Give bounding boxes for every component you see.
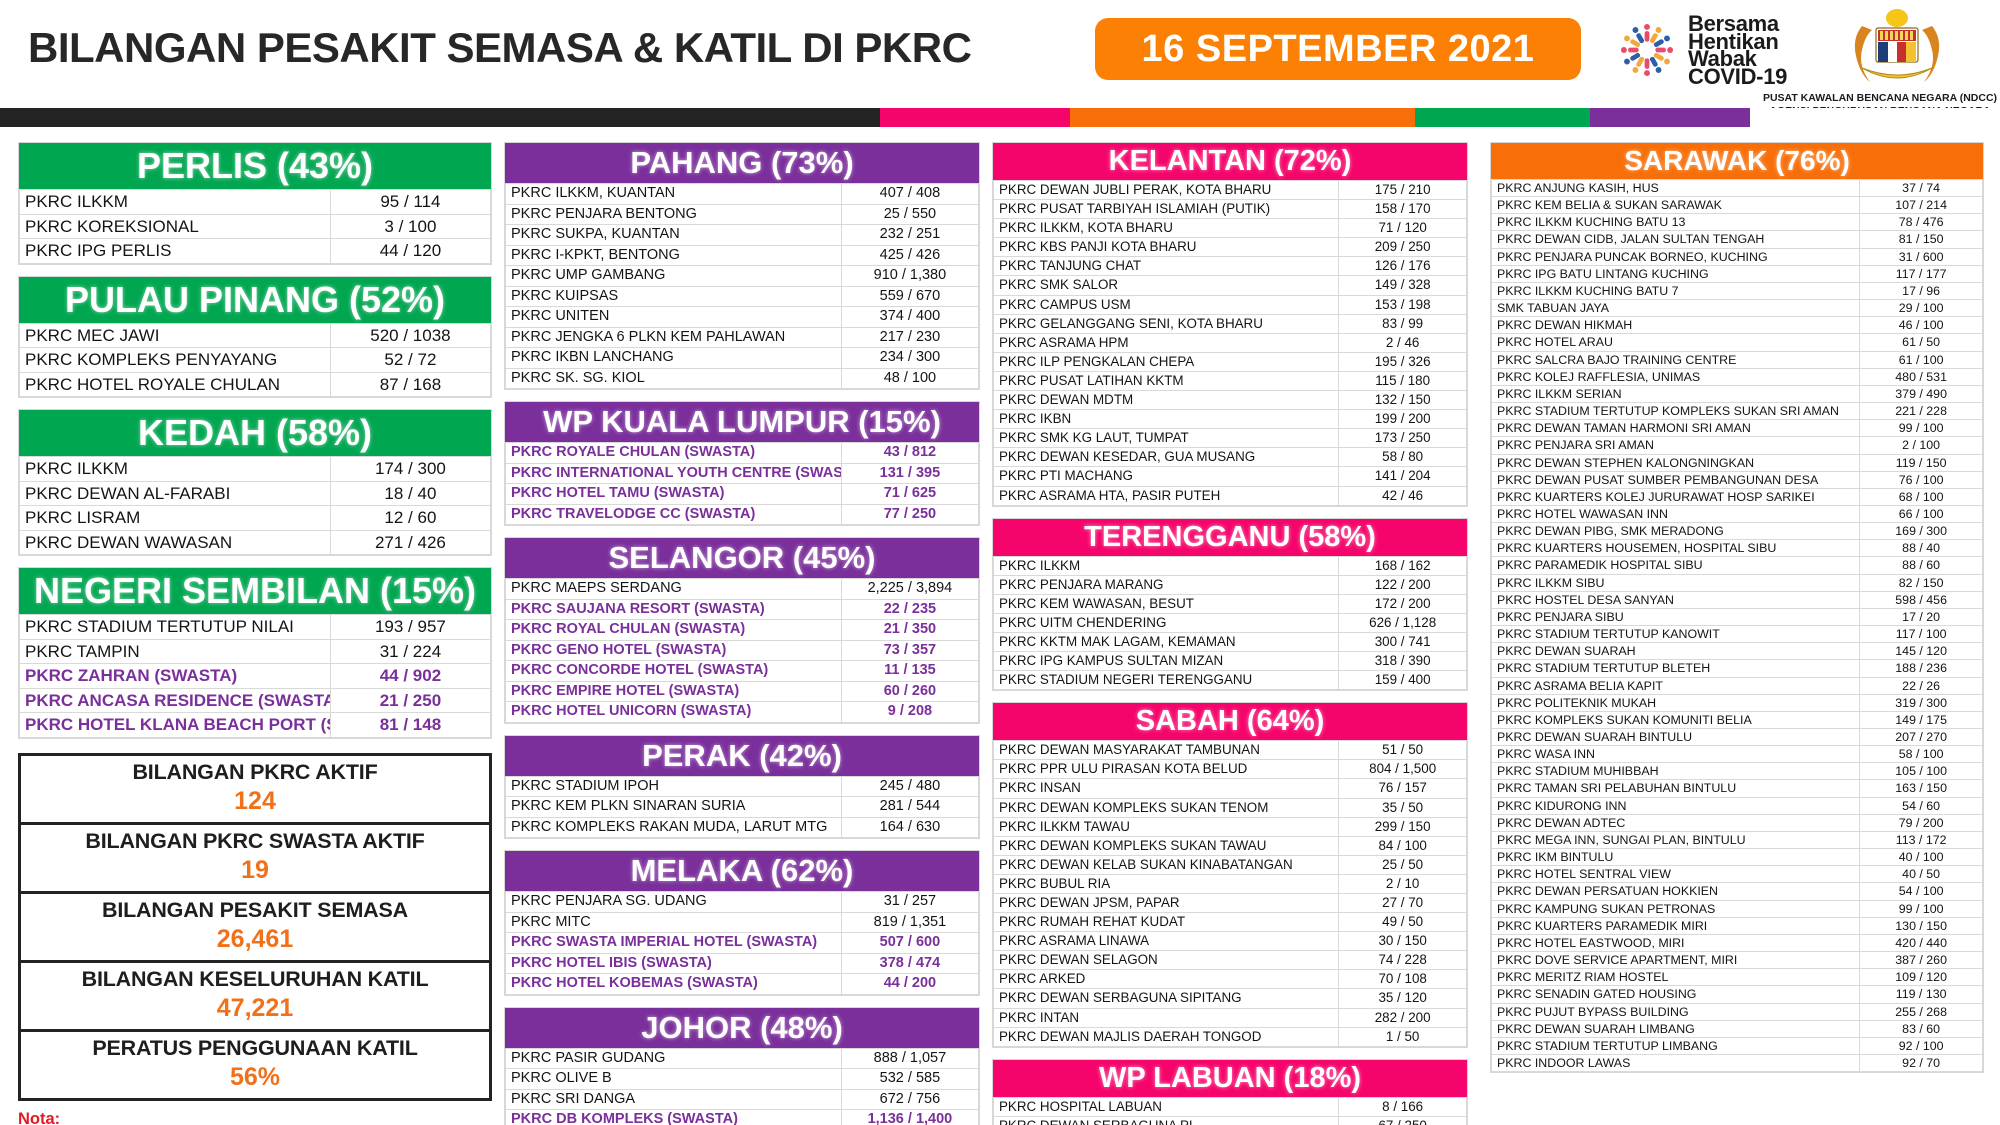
facility-name: PKRC ROYAL CHULAN (SWASTA) (506, 620, 842, 641)
table-row: PKRC KOREKSIONAL3 / 100 (20, 214, 491, 239)
table-row: PKRC PENJARA SIBU17 / 20 (1492, 608, 1983, 625)
state-block: PERAK (42%)PKRC STADIUM IPOH245 / 480PKR… (504, 735, 980, 840)
state-header: PERAK (42%) (505, 736, 979, 776)
patients-over-beds: 480 / 531 (1860, 368, 1983, 385)
facility-table: PKRC ANJUNG KASIH, HUS37 / 74PKRC KEM BE… (1491, 179, 1983, 1072)
state-block: TERENGGANU (58%)PKRC ILKKM168 / 162PKRC … (992, 518, 1468, 692)
facility-name: PKRC DEWAN SUARAH BINTULU (1492, 729, 1860, 746)
column-3: KELANTAN (72%)PKRC DEWAN JUBLI PERAK, KO… (992, 142, 1468, 1125)
table-row: PKRC HOTEL KLANA BEACH PORT (SWASTA)81 /… (20, 713, 491, 738)
facility-name: PKRC ILKKM, KOTA BHARU (994, 219, 1339, 238)
table-row: PKRC ILKKM SERIAN379 / 490 (1492, 385, 1983, 402)
patients-over-beds: 172 / 200 (1339, 594, 1467, 613)
patients-over-beds: 169 / 300 (1860, 523, 1983, 540)
table-row: PKRC HOTEL IBIS (SWASTA)378 / 474 (506, 953, 979, 974)
table-row: PKRC DEWAN PUSAT SUMBER PEMBANGUNAN DESA… (1492, 471, 1983, 488)
facility-name: PKRC DEWAN SUARAH (1492, 643, 1860, 660)
facility-name: PKRC DEWAN WAWASAN (20, 530, 331, 555)
patients-over-beds: 163 / 150 (1860, 780, 1983, 797)
patients-over-beds: 425 / 426 (841, 245, 978, 266)
state-block: MELAKA (62%)PKRC PENJARA SG. UDANG31 / 2… (504, 850, 980, 996)
patients-over-beds: 67 / 250 (1339, 1116, 1467, 1125)
patients-over-beds: 70 / 108 (1339, 970, 1467, 989)
table-row: PKRC PTI MACHANG141 / 204 (994, 467, 1467, 486)
table-row: PKRC KUARTERS KOLEJ JURURAWAT HOSP SARIK… (1492, 488, 1983, 505)
facility-name: PKRC STADIUM TERTUTUP KOMPLEKS SUKAN SRI… (1492, 403, 1860, 420)
table-row: PKRC KUIPSAS559 / 670 (506, 286, 979, 307)
facility-name: PKRC EMPIRE HOTEL (SWASTA) (506, 681, 842, 702)
table-row: PKRC KBS PANJI KOTA BHARU209 / 250 (994, 238, 1467, 257)
patients-over-beds: 520 / 1038 (330, 323, 490, 348)
patients-over-beds: 81 / 148 (330, 713, 490, 738)
table-row: PKRC DEWAN HIKMAH46 / 100 (1492, 317, 1983, 334)
facility-name: PKRC PTI MACHANG (994, 467, 1339, 486)
table-row: PKRC SENADIN GATED HOUSING119 / 130 (1492, 986, 1983, 1003)
note-title: Nota: (18, 1110, 492, 1125)
table-row: PKRC STADIUM TERTUTUP NILAI193 / 957 (20, 615, 491, 640)
state-block: WP LABUAN (18%)PKRC HOSPITAL LABUAN8 / 1… (992, 1059, 1468, 1125)
patients-over-beds: 31 / 600 (1860, 248, 1983, 265)
patients-over-beds: 92 / 70 (1860, 1054, 1983, 1071)
table-row: PKRC DEWAN PIBG, SMK MERADONG169 / 300 (1492, 523, 1983, 540)
table-row: PKRC ZAHRAN (SWASTA)44 / 902 (20, 664, 491, 689)
patients-over-beds: 195 / 326 (1339, 352, 1467, 371)
table-row: PKRC DEWAN MDTM132 / 150 (994, 391, 1467, 410)
facility-name: PKRC HOSPITAL LABUAN (994, 1097, 1339, 1116)
patients-over-beds: 245 / 480 (841, 776, 978, 797)
patients-over-beds: 46 / 100 (1860, 317, 1983, 334)
table-row: PKRC ILKKM, KUANTAN407 / 408 (506, 184, 979, 205)
facility-name: PKRC IKM BINTULU (1492, 849, 1860, 866)
facility-name: PKRC BUBUL RIA (994, 874, 1339, 893)
facility-table: PKRC DEWAN JUBLI PERAK, KOTA BHARU175 / … (993, 180, 1467, 506)
patients-over-beds: 126 / 176 (1339, 257, 1467, 276)
table-row: PKRC HOTEL ROYALE CHULAN87 / 168 (20, 372, 491, 397)
patients-over-beds: 3 / 100 (330, 214, 490, 239)
table-row: PKRC UNITEN374 / 400 (506, 307, 979, 328)
facility-name: PKRC ILKKM SIBU (1492, 574, 1860, 591)
table-row: PKRC KOLEJ RAFFLESIA, UNIMAS480 / 531 (1492, 368, 1983, 385)
summary-value: 47,221 (21, 994, 489, 1023)
patients-over-beds: 672 / 756 (841, 1089, 978, 1110)
patients-over-beds: 40 / 50 (1860, 866, 1983, 883)
table-row: PKRC IKM BINTULU40 / 100 (1492, 849, 1983, 866)
table-row: PKRC INTERNATIONAL YOUTH CENTRE (SWASTA)… (506, 463, 979, 484)
table-row: PKRC PENJARA PUNCAK BORNEO, KUCHING31 / … (1492, 248, 1983, 265)
facility-name: PKRC KUARTERS HOUSEMEN, HOSPITAL SIBU (1492, 540, 1860, 557)
facility-name: PKRC HOTEL KOBEMAS (SWASTA) (506, 974, 842, 995)
patients-over-beds: 87 / 168 (330, 372, 490, 397)
summary-row: PERATUS PENGGUNAAN KATIL56% (21, 1032, 489, 1098)
patients-over-beds: 31 / 224 (330, 639, 490, 664)
state-block: PULAU PINANG (52%)PKRC MEC JAWI520 / 103… (18, 276, 492, 399)
patients-over-beds: 58 / 100 (1860, 746, 1983, 763)
facility-name: PKRC KAMPUNG SUKAN PETRONAS (1492, 900, 1860, 917)
summary-label: PERATUS PENGGUNAAN KATIL (21, 1036, 489, 1061)
patients-over-beds: 282 / 200 (1339, 1008, 1467, 1027)
state-block: SELANGOR (45%)PKRC MAEPS SERDANG2,225 / … (504, 537, 980, 724)
table-row: PKRC MITC819 / 1,351 (506, 912, 979, 933)
patients-over-beds: 17 / 20 (1860, 608, 1983, 625)
table-row: PKRC DEWAN SUARAH145 / 120 (1492, 643, 1983, 660)
table-row: PKRC I-KPKT, BENTONG425 / 426 (506, 245, 979, 266)
patients-over-beds: 232 / 251 (841, 225, 978, 246)
patients-over-beds: 109 / 120 (1860, 969, 1983, 986)
facility-name: PKRC ILKKM TAWAU (994, 817, 1339, 836)
facility-table: PKRC HOSPITAL LABUAN8 / 166PKRC DEWAN SE… (993, 1097, 1467, 1125)
state-header: TERENGGANU (58%) (993, 519, 1467, 556)
patients-over-beds: 84 / 100 (1339, 836, 1467, 855)
facility-name: PKRC SWASTA IMPERIAL HOTEL (SWASTA) (506, 933, 842, 954)
state-header: KEDAH (58%) (19, 410, 491, 456)
table-row: PKRC HOTEL ARAU61 / 50 (1492, 334, 1983, 351)
table-row: PKRC DEWAN CIDB, JALAN SULTAN TENGAH81 /… (1492, 231, 1983, 248)
summary-row: BILANGAN PKRC SWASTA AKTIF19 (21, 825, 489, 894)
state-header: WP LABUAN (18%) (993, 1060, 1467, 1097)
table-row: PKRC CAMPUS USM153 / 198 (994, 295, 1467, 314)
patients-over-beds: 407 / 408 (841, 184, 978, 205)
stripe-segment-5 (1750, 108, 2000, 127)
facility-name: PKRC STADIUM TERTUTUP BLETEH (1492, 660, 1860, 677)
patients-over-beds: 532 / 585 (841, 1069, 978, 1090)
patients-over-beds: 79 / 200 (1860, 814, 1983, 831)
table-row: PKRC ILKKM KUCHING BATU 1378 / 476 (1492, 214, 1983, 231)
state-block: SARAWAK (76%)PKRC ANJUNG KASIH, HUS37 / … (1490, 142, 1984, 1073)
patients-over-beds: 30 / 150 (1339, 932, 1467, 951)
table-row: PKRC SRI DANGA672 / 756 (506, 1089, 979, 1110)
table-row: PKRC PASIR GUDANG888 / 1,057 (506, 1048, 979, 1069)
facility-name: PKRC KUARTERS PARAMEDIK MIRI (1492, 917, 1860, 934)
table-row: PKRC PENJARA SRI AMAN2 / 100 (1492, 437, 1983, 454)
facility-name: PKRC SALCRA BAJO TRAINING CENTRE (1492, 351, 1860, 368)
table-row: PKRC HOTEL KOBEMAS (SWASTA)44 / 200 (506, 974, 979, 995)
facility-name: PKRC MEC JAWI (20, 323, 331, 348)
patients-over-beds: 88 / 40 (1860, 540, 1983, 557)
summary-label: BILANGAN PKRC AKTIF (21, 760, 489, 785)
facility-name: PKRC MERITZ RIAM HOSTEL (1492, 969, 1860, 986)
summary-label: BILANGAN KESELURUHAN KATIL (21, 967, 489, 992)
patients-over-beds: 66 / 100 (1860, 505, 1983, 522)
table-row: PKRC RUMAH REHAT KUDAT49 / 50 (994, 913, 1467, 932)
table-row: PKRC HOTEL TAMU (SWASTA)71 / 625 (506, 484, 979, 505)
table-row: PKRC DEWAN JUBLI PERAK, KOTA BHARU175 / … (994, 181, 1467, 200)
patients-over-beds: 27 / 70 (1339, 894, 1467, 913)
summary-value: 19 (21, 856, 489, 885)
patients-over-beds: 54 / 100 (1860, 883, 1983, 900)
table-row: PKRC ROYALE CHULAN (SWASTA)43 / 812 (506, 443, 979, 464)
patients-over-beds: 113 / 172 (1860, 831, 1983, 848)
table-row: PKRC OLIVE B532 / 585 (506, 1069, 979, 1090)
table-row: PKRC DEWAN SUARAH BINTULU207 / 270 (1492, 729, 1983, 746)
patients-over-beds: 626 / 1,128 (1339, 613, 1467, 632)
facility-name: PKRC RUMAH REHAT KUDAT (994, 913, 1339, 932)
patients-over-beds: 132 / 150 (1339, 391, 1467, 410)
facility-name: PKRC DB KOMPLEKS (SWASTA) (506, 1110, 842, 1125)
patients-over-beds: 22 / 26 (1860, 677, 1983, 694)
summary-label: BILANGAN PESAKIT SEMASA (21, 898, 489, 923)
patients-over-beds: 83 / 99 (1339, 314, 1467, 333)
facility-name: PKRC HOTEL EASTWOOD, MIRI (1492, 934, 1860, 951)
facility-name: PKRC KOREKSIONAL (20, 214, 331, 239)
facility-name: PKRC DEWAN KOMPLEKS SUKAN TAWAU (994, 836, 1339, 855)
facility-name: PKRC TAMPIN (20, 639, 331, 664)
facility-name: PKRC ASRAMA HPM (994, 333, 1339, 352)
table-row: PKRC ILKKM174 / 300 (20, 457, 491, 482)
logo-text: Bersama Hentikan Wabak COVID-19 (1688, 15, 1787, 85)
summary-row: BILANGAN PKRC AKTIF124 (21, 756, 489, 825)
state-block: SABAH (64%)PKRC DEWAN MASYARAKAT TAMBUNA… (992, 702, 1468, 1048)
table-row: PKRC DEWAN KOMPLEKS SUKAN TAWAU84 / 100 (994, 836, 1467, 855)
table-row: PKRC STADIUM IPOH245 / 480 (506, 776, 979, 797)
table-row: PKRC KUARTERS HOUSEMEN, HOSPITAL SIBU88 … (1492, 540, 1983, 557)
date-badge: 16 SEPTEMBER 2021 (1095, 18, 1581, 80)
table-row: PKRC LISRAM12 / 60 (20, 506, 491, 531)
patients-over-beds: 9 / 208 (841, 702, 978, 723)
facility-name: PKRC DEWAN MASYARAKAT TAMBUNAN (994, 741, 1339, 760)
table-row: PKRC DEWAN STEPHEN KALONGNINGKAN119 / 15… (1492, 454, 1983, 471)
facility-name: PKRC SENADIN GATED HOUSING (1492, 986, 1860, 1003)
patients-over-beds: 77 / 250 (841, 504, 978, 525)
patients-over-beds: 271 / 426 (330, 530, 490, 555)
table-row: PKRC PUSAT TARBIYAH ISLAMIAH (PUTIK)158 … (994, 200, 1467, 219)
table-row: PKRC DEWAN SERBAGUNA SIPITANG35 / 120 (994, 989, 1467, 1008)
table-row: PKRC TANJUNG CHAT126 / 176 (994, 257, 1467, 276)
facility-name: PKRC DEWAN MAJLIS DAERAH TONGOD (994, 1027, 1339, 1046)
state-header: WP KUALA LUMPUR (15%) (505, 402, 979, 442)
patients-over-beds: 2 / 10 (1339, 874, 1467, 893)
patients-over-beds: 158 / 170 (1339, 200, 1467, 219)
patients-over-beds: 420 / 440 (1860, 934, 1983, 951)
stripe-segment-1 (880, 108, 1070, 127)
facility-name: PKRC STADIUM IPOH (506, 776, 842, 797)
patients-over-beds: 122 / 200 (1339, 575, 1467, 594)
table-row: PKRC KEM PLKN SINARAN SURIA281 / 544 (506, 797, 979, 818)
patients-over-beds: 318 / 390 (1339, 652, 1467, 671)
state-header: JOHOR (48%) (505, 1008, 979, 1048)
table-row: PKRC KAMPUNG SUKAN PETRONAS99 / 100 (1492, 900, 1983, 917)
facility-name: PKRC DEWAN SUARAH LIMBANG (1492, 1020, 1860, 1037)
patients-over-beds: 173 / 250 (1339, 429, 1467, 448)
patients-over-beds: 54 / 60 (1860, 797, 1983, 814)
facility-name: PKRC KUARTERS KOLEJ JURURAWAT HOSP SARIK… (1492, 488, 1860, 505)
patients-over-beds: 193 / 957 (330, 615, 490, 640)
facility-table: PKRC STADIUM TERTUTUP NILAI193 / 957PKRC… (19, 614, 491, 738)
agency-line-1: PUSAT KAWALAN BENCANA NEGARA (NDCC) (1762, 92, 1998, 105)
table-row: PKRC SK. SG. KIOL48 / 100 (506, 368, 979, 389)
stripe-segment-4 (1590, 108, 1750, 127)
date-label: 16 SEPTEMBER 2021 (1142, 28, 1535, 71)
facility-name: PKRC WASA INN (1492, 746, 1860, 763)
facility-table: PKRC DEWAN MASYARAKAT TAMBUNAN51 / 50PKR… (993, 740, 1467, 1047)
facility-name: PKRC DEWAN KESEDAR, GUA MUSANG (994, 448, 1339, 467)
patients-over-beds: 35 / 120 (1339, 989, 1467, 1008)
facility-name: PKRC SMK SALOR (994, 276, 1339, 295)
patients-over-beds: 131 / 395 (841, 463, 978, 484)
patients-over-beds: 17 / 96 (1860, 282, 1983, 299)
table-row: PKRC DOVE SERVICE APARTMENT, MIRI387 / 2… (1492, 952, 1983, 969)
table-row: PKRC TAMAN SRI PELABUHAN BINTULU163 / 15… (1492, 780, 1983, 797)
facility-name: PKRC KOMPLEKS RAKAN MUDA, LARUT MTG (506, 817, 842, 838)
facility-name: PKRC SRI DANGA (506, 1089, 842, 1110)
table-row: PKRC IPG KAMPUS SULTAN MIZAN318 / 390 (994, 652, 1467, 671)
facility-name: PKRC DEWAN JPSM, PAPAR (994, 894, 1339, 913)
facility-name: PKRC ILKKM KUCHING BATU 7 (1492, 282, 1860, 299)
facility-name: PKRC ARKED (994, 970, 1339, 989)
facility-name: PKRC ILKKM SERIAN (1492, 385, 1860, 402)
table-row: PKRC PENJARA MARANG122 / 200 (994, 575, 1467, 594)
patients-over-beds: 1,136 / 1,400 (841, 1110, 978, 1125)
table-row: PKRC SALCRA BAJO TRAINING CENTRE61 / 100 (1492, 351, 1983, 368)
facility-name: PKRC KEM WAWASAN, BESUT (994, 594, 1339, 613)
patients-over-beds: 2 / 46 (1339, 333, 1467, 352)
facility-name: PKRC DEWAN KELAB SUKAN KINABATANGAN (994, 855, 1339, 874)
facility-name: PKRC SK. SG. KIOL (506, 368, 842, 389)
table-row: PKRC KKTM MAK LAGAM, KEMAMAN300 / 741 (994, 632, 1467, 651)
patients-over-beds: 115 / 180 (1339, 371, 1467, 390)
table-row: PKRC DEWAN JPSM, PAPAR27 / 70 (994, 894, 1467, 913)
table-row: PKRC ILKKM KUCHING BATU 717 / 96 (1492, 282, 1983, 299)
table-row: PKRC ASRAMA HTA, PASIR PUTEH42 / 46 (994, 486, 1467, 505)
facility-name: PKRC KOMPLEKS SUKAN KOMUNITI BELIA (1492, 711, 1860, 728)
facility-name: PKRC DEWAN SERBAGUNA SIPITANG (994, 989, 1339, 1008)
table-row: PKRC DEWAN KOMPLEKS SUKAN TENOM35 / 50 (994, 798, 1467, 817)
patients-over-beds: 209 / 250 (1339, 238, 1467, 257)
patients-over-beds: 107 / 214 (1860, 197, 1983, 214)
table-row: PKRC PUSAT LATIHAN KKTM115 / 180 (994, 371, 1467, 390)
facility-name: PKRC PASIR GUDANG (506, 1048, 842, 1069)
patients-over-beds: 2 / 100 (1860, 437, 1983, 454)
people-burst-icon (1612, 15, 1682, 85)
patients-over-beds: 199 / 200 (1339, 410, 1467, 429)
table-row: PKRC SAUJANA RESORT (SWASTA)22 / 235 (506, 599, 979, 620)
patients-over-beds: 217 / 230 (841, 327, 978, 348)
patients-over-beds: 300 / 741 (1339, 632, 1467, 651)
table-row: PKRC HOSPITAL LABUAN8 / 166 (994, 1097, 1467, 1116)
facility-name: PKRC HOSTEL DESA SANYAN (1492, 591, 1860, 608)
patients-over-beds: 48 / 100 (841, 368, 978, 389)
facility-name: PKRC ASRAMA BELIA KAPIT (1492, 677, 1860, 694)
patients-over-beds: 804 / 1,500 (1339, 760, 1467, 779)
table-row: PKRC DEWAN PERSATUAN HOKKIEN54 / 100 (1492, 883, 1983, 900)
state-header: PAHANG (73%) (505, 143, 979, 183)
table-row: PKRC ILKKM SIBU82 / 150 (1492, 574, 1983, 591)
facility-table: PKRC ILKKM95 / 114PKRC KOREKSIONAL3 / 10… (19, 189, 491, 264)
table-row: PKRC STADIUM TERTUTUP KOMPLEKS SUKAN SRI… (1492, 403, 1983, 420)
summary-row: BILANGAN PESAKIT SEMASA26,461 (21, 894, 489, 963)
facility-name: PKRC SMK KG LAUT, TUMPAT (994, 429, 1339, 448)
state-header: KELANTAN (72%) (993, 143, 1467, 180)
table-row: SMK TABUAN JAYA29 / 100 (1492, 300, 1983, 317)
table-row: PKRC HOTEL UNICORN (SWASTA)9 / 208 (506, 702, 979, 723)
table-row: PKRC DEWAN SELAGON74 / 228 (994, 951, 1467, 970)
table-row: PKRC DEWAN MAJLIS DAERAH TONGOD1 / 50 (994, 1027, 1467, 1046)
patients-over-beds: 25 / 50 (1339, 855, 1467, 874)
patients-over-beds: 92 / 100 (1860, 1037, 1983, 1054)
patients-over-beds: 255 / 268 (1860, 1003, 1983, 1020)
facility-name: PKRC HOTEL WAWASAN INN (1492, 505, 1860, 522)
table-row: PKRC ANCASA RESIDENCE (SWASTA)21 / 250 (20, 688, 491, 713)
facility-name: PKRC MEGA INN, SUNGAI PLAN, BINTULU (1492, 831, 1860, 848)
facility-name: PKRC INSAN (994, 779, 1339, 798)
table-row: PKRC STADIUM MUHIBBAH105 / 100 (1492, 763, 1983, 780)
patients-over-beds: 58 / 80 (1339, 448, 1467, 467)
patients-over-beds: 12 / 60 (330, 506, 490, 531)
patients-over-beds: 44 / 120 (330, 239, 490, 264)
patients-over-beds: 8 / 166 (1339, 1097, 1467, 1116)
patients-over-beds: 188 / 236 (1860, 660, 1983, 677)
patients-over-beds: 119 / 150 (1860, 454, 1983, 471)
table-row: PKRC ILP PENGKALAN CHEPA195 / 326 (994, 352, 1467, 371)
facility-name: PKRC KIDURONG INN (1492, 797, 1860, 814)
table-row: PKRC POLITEKNIK MUKAH319 / 300 (1492, 694, 1983, 711)
facility-table: PKRC ROYALE CHULAN (SWASTA)43 / 812PKRC … (505, 442, 979, 525)
patients-over-beds: 95 / 114 (330, 190, 490, 215)
table-row: PKRC DEWAN MASYARAKAT TAMBUNAN51 / 50 (994, 741, 1467, 760)
facility-name: PKRC PUSAT TARBIYAH ISLAMIAH (PUTIK) (994, 200, 1339, 219)
patients-over-beds: 78 / 476 (1860, 214, 1983, 231)
state-header: SELANGOR (45%) (505, 538, 979, 578)
patients-over-beds: 22 / 235 (841, 599, 978, 620)
facility-name: PKRC TRAVELODGE CC (SWASTA) (506, 504, 842, 525)
page-title: BILANGAN PESAKIT SEMASA & KATIL DI PKRC (28, 24, 971, 72)
facility-name: PKRC TAMAN SRI PELABUHAN BINTULU (1492, 780, 1860, 797)
facility-name: PKRC DEWAN PIBG, SMK MERADONG (1492, 523, 1860, 540)
state-block: PAHANG (73%)PKRC ILKKM, KUANTAN407 / 408… (504, 142, 980, 390)
facility-name: PKRC PENJARA SG. UDANG (506, 892, 842, 913)
patients-over-beds: 71 / 625 (841, 484, 978, 505)
table-row: PKRC TRAVELODGE CC (SWASTA)77 / 250 (506, 504, 979, 525)
summary-label: BILANGAN PKRC SWASTA AKTIF (21, 829, 489, 854)
patients-over-beds: 76 / 157 (1339, 779, 1467, 798)
patients-over-beds: 379 / 490 (1860, 385, 1983, 402)
facility-name: PKRC UMP GAMBANG (506, 266, 842, 287)
table-row: PKRC SMK KG LAUT, TUMPAT173 / 250 (994, 429, 1467, 448)
table-row: PKRC IKBN LANCHANG234 / 300 (506, 348, 979, 369)
facility-name: PKRC DEWAN SERBAGUNA PL (994, 1116, 1339, 1125)
bersama-hentikan-wabak-logo: Bersama Hentikan Wabak COVID-19 (1612, 12, 1812, 88)
facility-name: PKRC ROYALE CHULAN (SWASTA) (506, 443, 842, 464)
patients-over-beds: 174 / 300 (330, 457, 490, 482)
facility-name: PKRC ILKKM (20, 457, 331, 482)
table-row: PKRC DEWAN SERBAGUNA PL67 / 250 (994, 1116, 1467, 1125)
patients-over-beds: 81 / 150 (1860, 231, 1983, 248)
table-row: PKRC DEWAN WAWASAN271 / 426 (20, 530, 491, 555)
summary-value: 124 (21, 787, 489, 816)
facility-name: PKRC TANJUNG CHAT (994, 257, 1339, 276)
state-block: WP KUALA LUMPUR (15%)PKRC ROYALE CHULAN … (504, 401, 980, 526)
page-header: BILANGAN PESAKIT SEMASA & KATIL DI PKRC … (0, 0, 2000, 108)
table-row: PKRC DEWAN ADTEC79 / 200 (1492, 814, 1983, 831)
table-row: PKRC ILKKM168 / 162 (994, 556, 1467, 575)
column-4: SARAWAK (76%)PKRC ANJUNG KASIH, HUS37 / … (1490, 142, 1984, 1084)
facility-name: PKRC HOTEL TAMU (SWASTA) (506, 484, 842, 505)
facility-name: PKRC STADIUM TERTUTUP LIMBANG (1492, 1037, 1860, 1054)
table-row: PKRC ANJUNG KASIH, HUS37 / 74 (1492, 180, 1983, 197)
table-row: PKRC KOMPLEKS SUKAN KOMUNITI BELIA149 / … (1492, 711, 1983, 728)
patients-over-beds: 88 / 60 (1860, 557, 1983, 574)
state-block: NEGERI SEMBILAN (15%)PKRC STADIUM TERTUT… (18, 567, 492, 739)
facility-name: PKRC PUSAT LATIHAN KKTM (994, 371, 1339, 390)
facility-name: PKRC ANCASA RESIDENCE (SWASTA) (20, 688, 331, 713)
table-row: PKRC INTAN282 / 200 (994, 1008, 1467, 1027)
table-row: PKRC DEWAN TAMAN HARMONI SRI AMAN99 / 10… (1492, 420, 1983, 437)
patients-over-beds: 31 / 257 (841, 892, 978, 913)
facility-name: PKRC IKBN (994, 410, 1339, 429)
patients-over-beds: 319 / 300 (1860, 694, 1983, 711)
table-row: PKRC DB KOMPLEKS (SWASTA)1,136 / 1,400 (506, 1110, 979, 1125)
facility-name: PKRC DEWAN STEPHEN KALONGNINGKAN (1492, 454, 1860, 471)
patients-over-beds: 29 / 100 (1860, 300, 1983, 317)
